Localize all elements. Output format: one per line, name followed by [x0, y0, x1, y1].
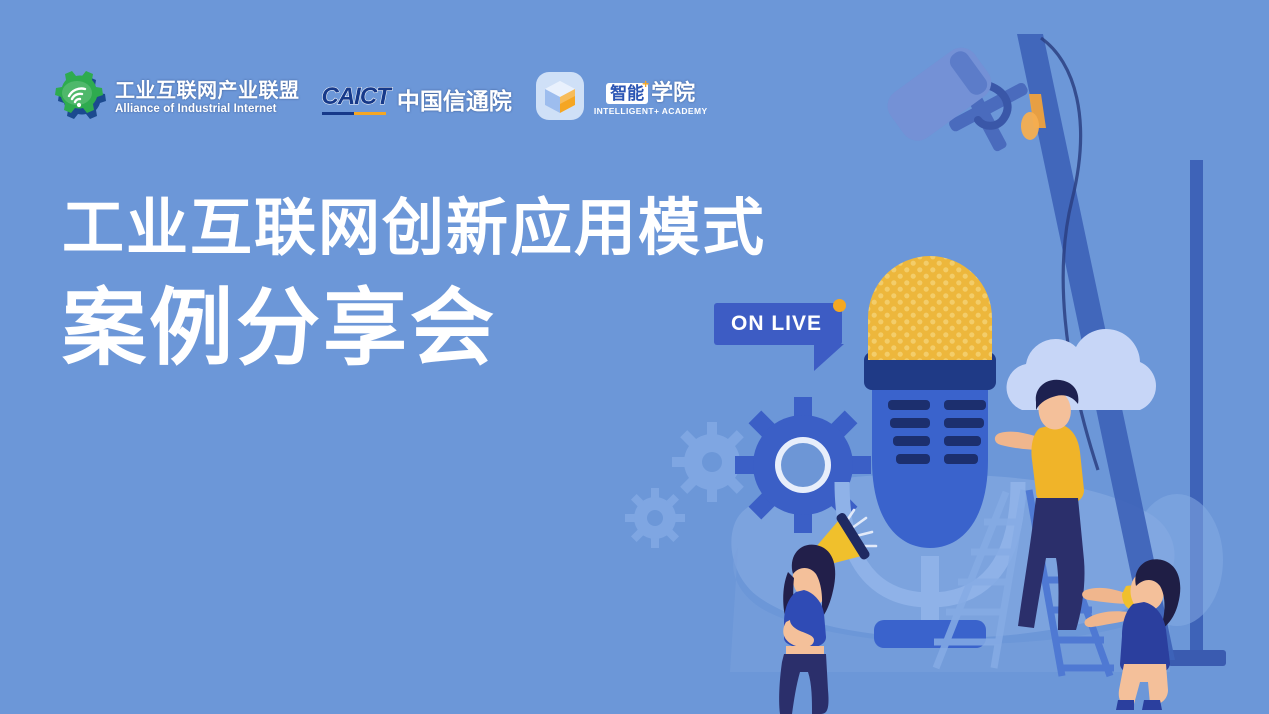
- logo-caict: CAICT 中国信通院: [322, 82, 512, 116]
- logo-academy-text: 智能 + 学院 INTELLIGENT+ ACADEMY: [594, 82, 708, 116]
- cube-box-icon: [534, 70, 586, 127]
- page-title: 工业互联网创新应用模式 案例分享会: [62, 196, 766, 373]
- caict-wordmark: CAICT: [322, 83, 390, 115]
- caict-underline: [322, 112, 390, 115]
- title-line-1: 工业互联网创新应用模式: [62, 196, 766, 259]
- logo-alliance-cn: 工业互联网产业联盟: [115, 81, 300, 101]
- logo-intelligent-academy: 智能 + 学院 INTELLIGENT+ ACADEMY: [534, 70, 708, 127]
- logo-academy-badge: 智能 +: [606, 83, 648, 104]
- logo-bar: 工业互联网产业联盟 Alliance of Industrial Interne…: [52, 68, 708, 129]
- logo-alliance-en: Alliance of Industrial Internet: [115, 104, 300, 116]
- logo-academy-plus: +: [642, 78, 649, 90]
- live-indicator-dot: [833, 299, 846, 312]
- logo-alliance-text: 工业互联网产业联盟 Alliance of Industrial Interne…: [115, 81, 300, 116]
- logo-academy-row: 智能 + 学院: [606, 82, 695, 104]
- poster-canvas: 工业互联网产业联盟 Alliance of Industrial Interne…: [0, 0, 1269, 714]
- logo-alliance-of-industrial-internet: 工业互联网产业联盟 Alliance of Industrial Interne…: [52, 68, 300, 129]
- speech-bubble-tail: [814, 344, 844, 371]
- logo-academy-en: INTELLIGENT+ ACADEMY: [594, 107, 708, 116]
- gear-wifi-icon: [52, 68, 108, 129]
- logo-academy-cn1: 智能: [610, 84, 644, 103]
- title-line-2: 案例分享会: [62, 285, 766, 372]
- caict-letters: CAICT: [322, 83, 390, 110]
- logo-academy-cn2: 学院: [651, 82, 695, 104]
- logo-caict-cn: 中国信通院: [397, 82, 512, 116]
- cloud: [1007, 329, 1156, 410]
